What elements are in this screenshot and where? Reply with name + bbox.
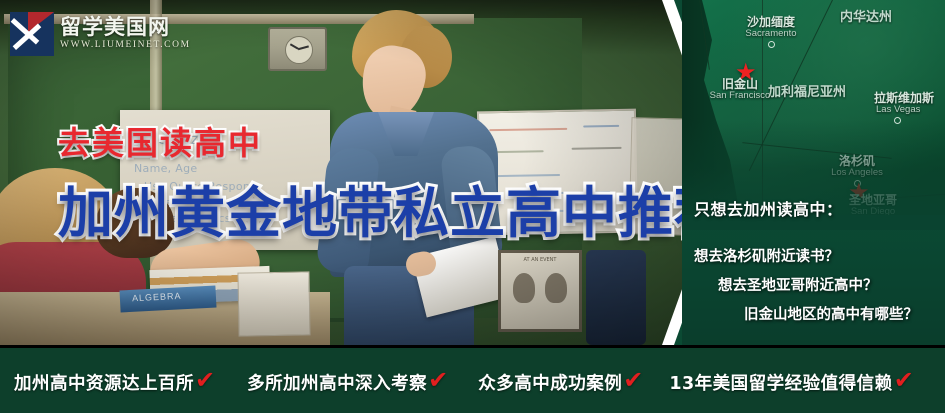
framed-picture-caption: AT AN EVENT bbox=[501, 257, 579, 263]
feature-item-1: 加州高中资源达上百所 ✔ bbox=[14, 370, 215, 395]
question-item-1: 想去洛杉矶附近读书？ bbox=[694, 245, 839, 266]
clock-hour-hand bbox=[289, 44, 298, 50]
logo-url: WWW.LIUMEINET.COM bbox=[60, 41, 191, 51]
portrait-silhouette bbox=[513, 273, 535, 303]
framed-picture: AT AN EVENT bbox=[498, 250, 582, 332]
logo-text-block: 留学美国网 WWW.LIUMEINET.COM bbox=[60, 17, 191, 51]
map-panel: 内华达州 加利福尼亚州 沙加缅度 Sacramento ★ 旧金山 San Fr… bbox=[682, 0, 945, 345]
question-item-3: 旧金山地区的高中有哪些？ bbox=[744, 303, 918, 324]
city-name-cn: 旧金山 bbox=[698, 78, 782, 91]
city-name-cn: 拉斯维加斯 bbox=[874, 92, 945, 105]
map-state-label-nevada: 内华达州 bbox=[840, 6, 892, 25]
map-city-san-francisco: 旧金山 San Francisco bbox=[698, 78, 782, 101]
site-logo[interactable]: 留学美国网 WWW.LIUMEINET.COM bbox=[10, 8, 158, 60]
feature-item-3: 众多高中成功案例 ✔ bbox=[478, 370, 643, 395]
check-icon: ✔ bbox=[195, 368, 215, 392]
question-item-2: 想去圣地亚哥附近高中？ bbox=[718, 274, 878, 295]
feature-item-4: 13年美国留学经验值得信赖 ✔ bbox=[669, 370, 913, 395]
feature-item-2: 多所加州高中深入考察 ✔ bbox=[247, 370, 448, 395]
city-dot-icon bbox=[768, 41, 775, 48]
headline-subtitle: 去美国读高中 bbox=[58, 118, 262, 164]
check-icon: ✔ bbox=[428, 368, 448, 392]
city-name-en: Las Vegas bbox=[876, 105, 945, 116]
whiteboard-scribble bbox=[583, 125, 619, 128]
city-name-cn: 沙加缅度 bbox=[726, 16, 816, 29]
whiteboard-scribble bbox=[572, 147, 622, 150]
headline-main: 加州黄金地带私立高中推荐 bbox=[58, 168, 730, 248]
check-icon: ✔ bbox=[894, 368, 914, 392]
check-icon: ✔ bbox=[623, 368, 643, 392]
feature-label: 众多高中成功案例 bbox=[478, 370, 622, 395]
x-logo-icon bbox=[10, 12, 54, 56]
logo-name-cn: 留学美国网 bbox=[60, 17, 191, 38]
feature-label: 多所加州高中深入考察 bbox=[247, 370, 427, 395]
feature-label: 加州高中资源达上百所 bbox=[14, 370, 194, 395]
map-city-las-vegas: 拉斯维加斯 Las Vegas bbox=[874, 92, 945, 124]
feature-label: 13年美国留学经验值得信赖 bbox=[669, 370, 892, 395]
feature-bar: 加州高中资源达上百所 ✔ 多所加州高中深入考察 ✔ 众多高中成功案例 ✔ 13年… bbox=[0, 345, 945, 413]
city-name-en: San Francisco bbox=[698, 91, 782, 101]
city-name-en: Sacramento bbox=[726, 29, 816, 40]
whiteboard-scribble bbox=[489, 128, 567, 131]
classroom-chair bbox=[586, 250, 646, 345]
map-city-sacramento: 沙加缅度 Sacramento bbox=[726, 16, 816, 48]
questions-title: 只想去加州读高中： bbox=[694, 196, 843, 220]
promo-banner: aracterizati Name, Age Use Quote Respon … bbox=[0, 0, 945, 413]
portrait-silhouette bbox=[545, 273, 567, 303]
binder bbox=[237, 271, 310, 336]
